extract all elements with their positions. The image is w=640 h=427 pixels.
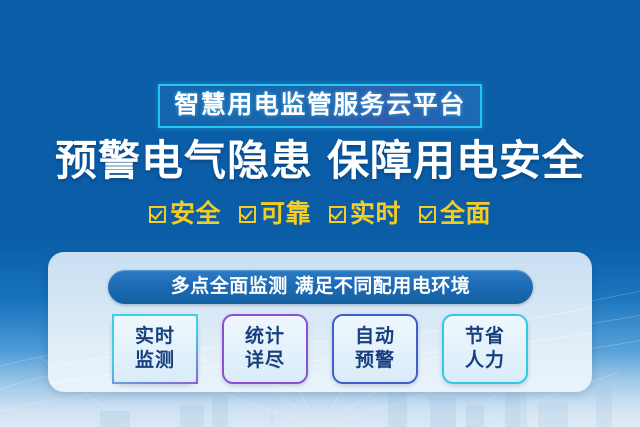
feature-card-realtime-monitoring[interactable]: 实时 监测 xyxy=(112,314,198,384)
feature-label: 可靠 xyxy=(260,200,311,228)
list-item: 安全 xyxy=(149,200,221,228)
card-line-2: 人力 xyxy=(465,349,505,373)
subtitle-text: 智慧用电监管服务云平台 xyxy=(174,91,466,119)
card-line-2: 预警 xyxy=(355,349,395,373)
checkbox-checked-icon xyxy=(149,206,166,223)
feature-label: 实时 xyxy=(350,200,401,228)
feature-label: 安全 xyxy=(170,200,221,228)
headline-part-1: 预警电气隐患 xyxy=(55,137,313,184)
panel-banner-part-2: 满足不同配用电环境 xyxy=(295,276,471,297)
feature-check-list: 安全 可靠 实时 全面 xyxy=(0,200,640,228)
subtitle-badge: 智慧用电监管服务云平台 xyxy=(158,84,482,128)
feature-card-detailed-statistics[interactable]: 统计 详尽 xyxy=(222,314,308,384)
list-item: 实时 xyxy=(329,200,401,228)
headline-part-2: 保障用电安全 xyxy=(327,137,585,184)
feature-card-list: 实时 监测 统计 详尽 自动 预警 节省 人力 xyxy=(48,314,592,384)
panel-banner-pill: 多点全面监测满足不同配用电环境 xyxy=(108,270,533,304)
card-line-2: 监测 xyxy=(135,349,175,373)
card-line-1: 自动 xyxy=(355,325,395,349)
panel-banner-part-1: 多点全面监测 xyxy=(171,276,288,297)
card-line-1: 实时 xyxy=(135,325,175,349)
page-title: 预警电气隐患保障用电安全 xyxy=(0,136,640,186)
panel-banner-text: 多点全面监测满足不同配用电环境 xyxy=(171,276,471,298)
list-item: 全面 xyxy=(419,200,491,228)
checkbox-checked-icon xyxy=(239,206,256,223)
feature-panel: 多点全面监测满足不同配用电环境 实时 监测 统计 详尽 自动 预警 节省 人力 xyxy=(48,252,592,392)
feature-card-save-manpower[interactable]: 节省 人力 xyxy=(442,314,528,384)
feature-card-auto-alert[interactable]: 自动 预警 xyxy=(332,314,418,384)
card-line-1: 统计 xyxy=(245,325,285,349)
feature-label: 全面 xyxy=(440,200,491,228)
card-line-1: 节省 xyxy=(465,325,505,349)
poster-root: 智慧用电监管服务云平台 预警电气隐患保障用电安全 安全 可靠 实时 全面 xyxy=(0,0,640,427)
list-item: 可靠 xyxy=(239,200,311,228)
checkbox-checked-icon xyxy=(329,206,346,223)
checkbox-checked-icon xyxy=(419,206,436,223)
card-line-2: 详尽 xyxy=(245,349,285,373)
subtitle-container: 智慧用电监管服务云平台 xyxy=(0,84,640,128)
